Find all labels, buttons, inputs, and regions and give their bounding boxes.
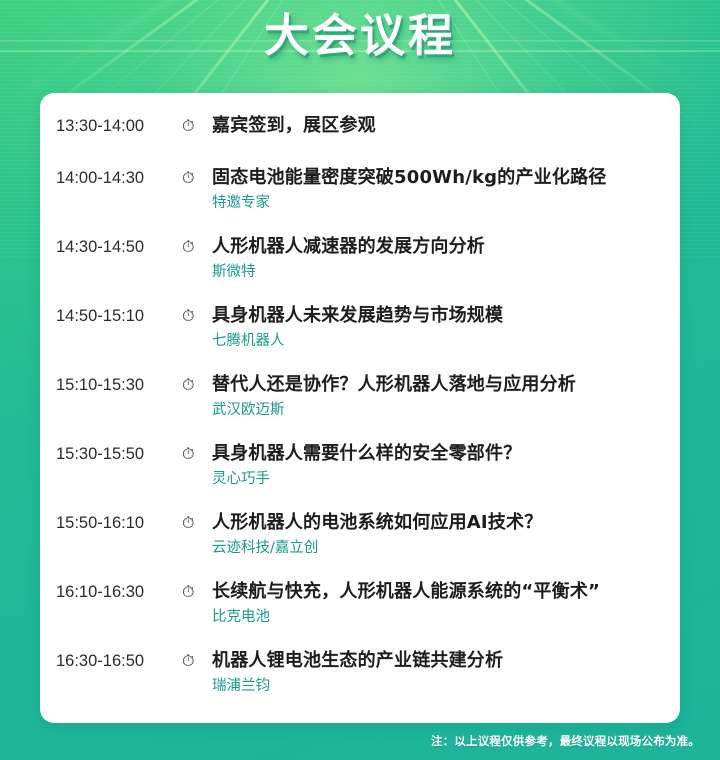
page-title: 大会议程	[264, 8, 456, 64]
agenda-poster: 大会议程 13:30-14:00⏱嘉宾签到，展区参观14:00-14:30⏱固态…	[0, 0, 720, 760]
agenda-text-group: 具身机器人未来发展趋势与市场规模七腾机器人	[212, 301, 666, 352]
agenda-row: 13:30-14:00⏱嘉宾签到，展区参观	[40, 111, 680, 145]
agenda-topic: 嘉宾签到，展区参观	[212, 111, 666, 141]
agenda-speaker: 云迹科技/嘉立创	[212, 537, 666, 559]
agenda-time: 14:00-14:30	[56, 163, 182, 193]
agenda-row: 15:30-15:50⏱具身机器人需要什么样的安全零部件？灵心巧手	[40, 439, 680, 490]
agenda-topic: 固态电池能量密度突破500Wh/kg的产业化路径	[212, 163, 666, 193]
agenda-time: 16:10-16:30	[56, 577, 182, 607]
agenda-row: 15:50-16:10⏱人形机器人的电池系统如何应用AI技术？云迹科技/嘉立创	[40, 508, 680, 559]
agenda-text-group: 人形机器人的电池系统如何应用AI技术？云迹科技/嘉立创	[212, 508, 666, 559]
clock-icon: ⏱	[182, 646, 212, 676]
agenda-row: 14:30-14:50⏱人形机器人减速器的发展方向分析斯微特	[40, 232, 680, 283]
agenda-speaker: 灵心巧手	[212, 468, 666, 490]
agenda-topic: 长续航与快充，人形机器人能源系统的“平衡术”	[212, 577, 666, 607]
agenda-row: 16:10-16:30⏱长续航与快充，人形机器人能源系统的“平衡术”比克电池	[40, 577, 680, 628]
clock-icon: ⏱	[182, 439, 212, 469]
agenda-topic: 人形机器人减速器的发展方向分析	[212, 232, 666, 262]
agenda-topic: 人形机器人的电池系统如何应用AI技术？	[212, 508, 666, 538]
agenda-topic: 机器人锂电池生态的产业链共建分析	[212, 646, 666, 676]
agenda-text-group: 嘉宾签到，展区参观	[212, 111, 666, 141]
agenda-time: 14:50-15:10	[56, 301, 182, 331]
clock-icon: ⏱	[182, 508, 212, 538]
agenda-text-group: 固态电池能量密度突破500Wh/kg的产业化路径特邀专家	[212, 163, 666, 214]
agenda-time: 15:30-15:50	[56, 439, 182, 469]
agenda-row: 16:30-16:50⏱机器人锂电池生态的产业链共建分析瑞浦兰钧	[40, 646, 680, 697]
agenda-text-group: 替代人还是协作？人形机器人落地与应用分析武汉欧迈斯	[212, 370, 666, 421]
agenda-row: 14:50-15:10⏱具身机器人未来发展趋势与市场规模七腾机器人	[40, 301, 680, 352]
agenda-speaker: 比克电池	[212, 606, 666, 628]
clock-icon: ⏱	[182, 163, 212, 193]
clock-icon: ⏱	[182, 370, 212, 400]
agenda-card: 13:30-14:00⏱嘉宾签到，展区参观14:00-14:30⏱固态电池能量密…	[40, 93, 680, 723]
agenda-row: 15:10-15:30⏱替代人还是协作？人形机器人落地与应用分析武汉欧迈斯	[40, 370, 680, 421]
agenda-time: 13:30-14:00	[56, 111, 182, 141]
agenda-speaker: 瑞浦兰钧	[212, 675, 666, 697]
clock-icon: ⏱	[182, 111, 212, 141]
disclaimer-note: 注：以上议程仅供参考，最终议程以现场公布为准。	[431, 733, 700, 749]
agenda-topic: 替代人还是协作？人形机器人落地与应用分析	[212, 370, 666, 400]
agenda-topic: 具身机器人未来发展趋势与市场规模	[212, 301, 666, 331]
agenda-time: 15:10-15:30	[56, 370, 182, 400]
agenda-time: 16:30-16:50	[56, 646, 182, 676]
agenda-text-group: 人形机器人减速器的发展方向分析斯微特	[212, 232, 666, 283]
page-title-wrap: 大会议程	[0, 8, 720, 64]
agenda-text-group: 长续航与快充，人形机器人能源系统的“平衡术”比克电池	[212, 577, 666, 628]
agenda-time: 14:30-14:50	[56, 232, 182, 262]
agenda-speaker: 斯微特	[212, 261, 666, 283]
agenda-text-group: 机器人锂电池生态的产业链共建分析瑞浦兰钧	[212, 646, 666, 697]
clock-icon: ⏱	[182, 232, 212, 262]
clock-icon: ⏱	[182, 301, 212, 331]
agenda-row: 14:00-14:30⏱固态电池能量密度突破500Wh/kg的产业化路径特邀专家	[40, 163, 680, 214]
agenda-time: 15:50-16:10	[56, 508, 182, 538]
agenda-speaker: 武汉欧迈斯	[212, 399, 666, 421]
agenda-list: 13:30-14:00⏱嘉宾签到，展区参观14:00-14:30⏱固态电池能量密…	[40, 111, 680, 697]
agenda-speaker: 特邀专家	[212, 192, 666, 214]
agenda-topic: 具身机器人需要什么样的安全零部件？	[212, 439, 666, 469]
agenda-speaker: 七腾机器人	[212, 330, 666, 352]
agenda-text-group: 具身机器人需要什么样的安全零部件？灵心巧手	[212, 439, 666, 490]
clock-icon: ⏱	[182, 577, 212, 607]
